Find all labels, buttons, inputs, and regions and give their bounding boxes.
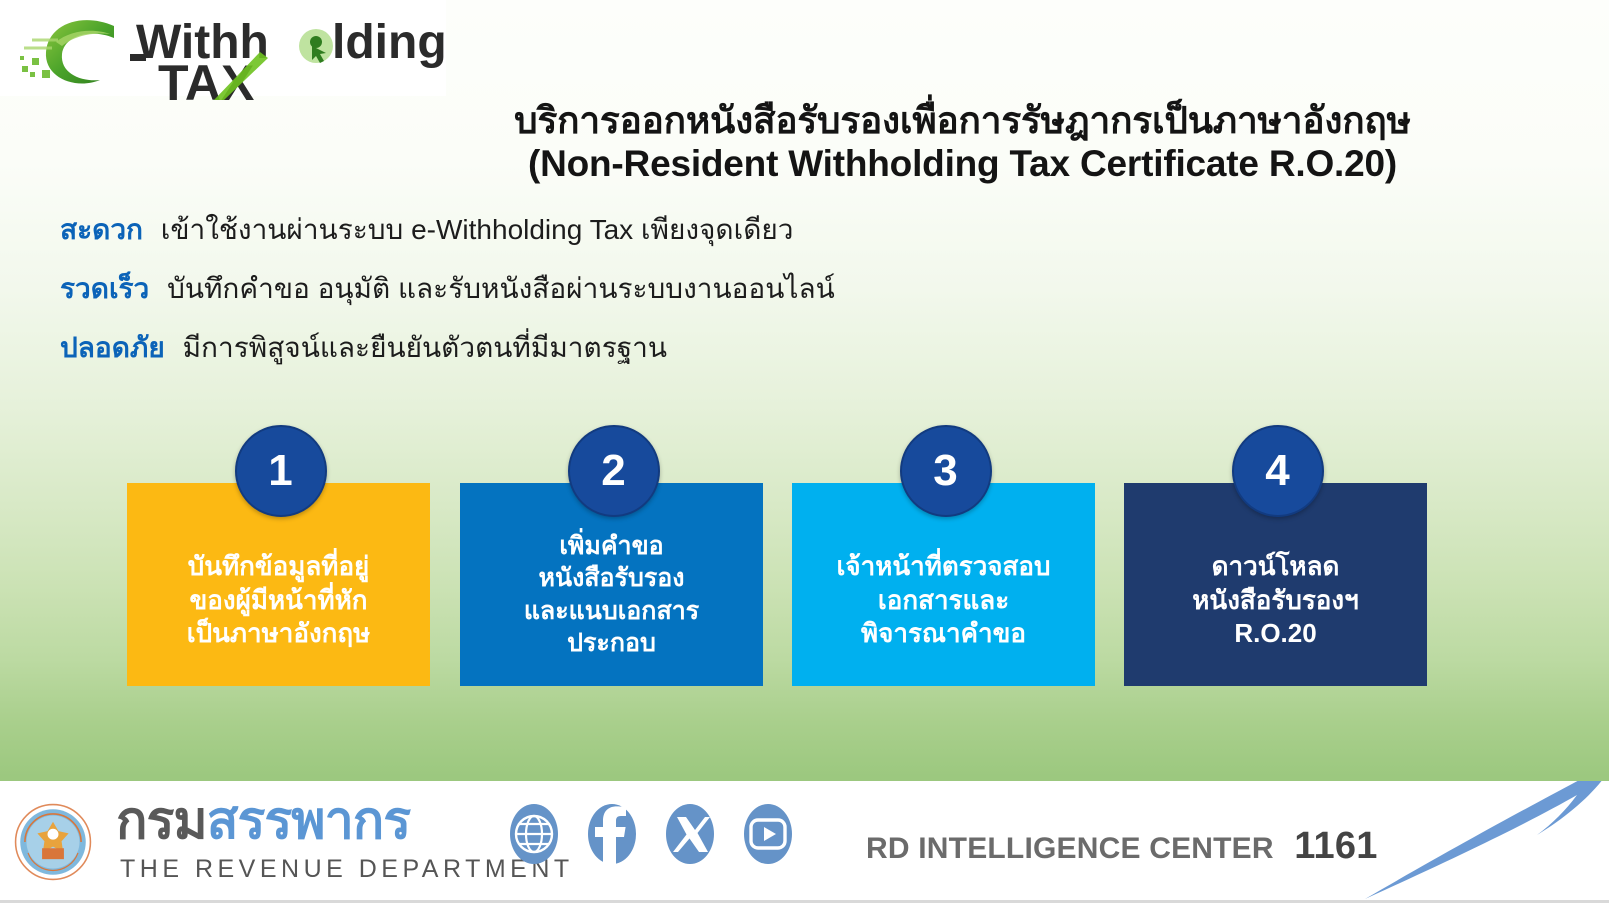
step-2-line-4: ประกอบ [567, 627, 656, 660]
step-1-line-2: ของผู้มีหน้าที่หัก [190, 584, 368, 618]
page-title: บริการออกหนังสือรับรองเพื่อการรัษฎากรเป็… [330, 100, 1595, 186]
logo-graphic: Withh lding TAX [18, 8, 448, 100]
footer: กรมสรรพากร THE REVENUE DEPARTMENT [0, 781, 1609, 903]
benefit-item-fast: รวดเร็ว บันทึกคำขอ อนุมัติ และรับหนังสือ… [60, 275, 1260, 303]
infographic-poster: Withh lding TAX บริการออกหนังสือรับรองเพ… [0, 0, 1609, 903]
step-3-line-2: เอกสารและ [878, 584, 1009, 618]
decorative-swoosh [1325, 781, 1609, 903]
svg-text:lding: lding [332, 16, 447, 69]
benefit-text: บันทึกคำขอ อนุมัติ และรับหนังสือผ่านระบบ… [167, 273, 835, 304]
facebook-icon[interactable] [586, 803, 638, 865]
step-2-number: 2 [568, 425, 660, 517]
benefit-item-secure: ปลอดภัย มีการพิสูจน์และยืนยันตัวตนที่มีม… [60, 334, 1260, 362]
step-2-line-1: เพิ่มคำขอ [559, 530, 663, 563]
process-step-1: 1 บันทึกข้อมูลที่อยู่ ของผู้มีหน้าที่หัก… [127, 483, 430, 686]
process-step-4: 4 ดาวน์โหลด หนังสือรับรองฯ R.O.20 [1124, 483, 1427, 686]
benefit-keyword: รวดเร็ว [60, 273, 149, 304]
revenue-department-seal [14, 803, 92, 881]
benefit-text: เข้าใช้งานผ่านระบบ e-Withholding Tax เพี… [161, 214, 794, 245]
step-2-line-2: หนังสือรับรอง [539, 562, 685, 595]
org-name-thai: กรมสรรพากร [116, 795, 410, 847]
benefit-item-convenient: สะดวก เข้าใช้งานผ่านระบบ e-Withholding T… [60, 216, 1260, 244]
step-4-line-3: R.O.20 [1234, 617, 1316, 651]
org-name-thai-part1: กรม [116, 792, 207, 850]
revenue-department-logo: กรมสรรพากร THE REVENUE DEPARTMENT [8, 789, 478, 893]
e-withholding-tax-logo: Withh lding TAX [18, 8, 448, 100]
logo-panel: Withh lding TAX [0, 0, 446, 96]
benefit-list: สะดวก เข้าใช้งานผ่านระบบ e-Withholding T… [60, 216, 1260, 393]
step-2-line-3: และแนบเอกสาร [524, 595, 699, 628]
process-step-3: 3 เจ้าหน้าที่ตรวจสอบ เอกสารและ พิจารณาคำ… [792, 483, 1095, 686]
x-twitter-icon[interactable] [664, 803, 716, 865]
step-4-number: 4 [1232, 425, 1324, 517]
title-thai: บริการออกหนังสือรับรองเพื่อการรัษฎากรเป็… [330, 100, 1595, 143]
social-links [508, 803, 794, 865]
title-english: (Non-Resident Withholding Tax Certificat… [330, 143, 1595, 186]
process-step-2: 2 เพิ่มคำขอ หนังสือรับรอง และแนบเอกสาร ป… [460, 483, 763, 686]
step-1-line-1: บันทึกข้อมูลที่อยู่ [188, 550, 370, 584]
step-4-line-2: หนังสือรับรองฯ [1192, 584, 1358, 618]
process-steps: 1 บันทึกข้อมูลที่อยู่ ของผู้มีหน้าที่หัก… [0, 425, 1609, 695]
step-4-line-1: ดาวน์โหลด [1212, 550, 1340, 584]
org-name-thai-part2: สรรพากร [207, 792, 411, 850]
benefit-text: มีการพิสูจน์และยืนยันตัวตนที่มีมาตรฐาน [183, 332, 667, 363]
rd-intelligence-center: RD INTELLIGENCE CENTER 1161 [866, 825, 1378, 868]
step-3-number: 3 [900, 425, 992, 517]
youtube-icon[interactable] [742, 803, 794, 865]
rdic-label: RD INTELLIGENCE CENTER [866, 832, 1274, 865]
org-name-english: THE REVENUE DEPARTMENT [120, 855, 574, 884]
step-1-number: 1 [235, 425, 327, 517]
benefit-keyword: ปลอดภัย [60, 332, 165, 363]
step-1-line-3: เป็นภาษาอังกฤษ [187, 617, 371, 651]
website-globe-icon[interactable] [508, 803, 560, 865]
step-3-line-1: เจ้าหน้าที่ตรวจสอบ [836, 550, 1050, 584]
benefit-keyword: สะดวก [60, 214, 143, 245]
step-3-line-3: พิจารณาคำขอ [861, 617, 1026, 651]
